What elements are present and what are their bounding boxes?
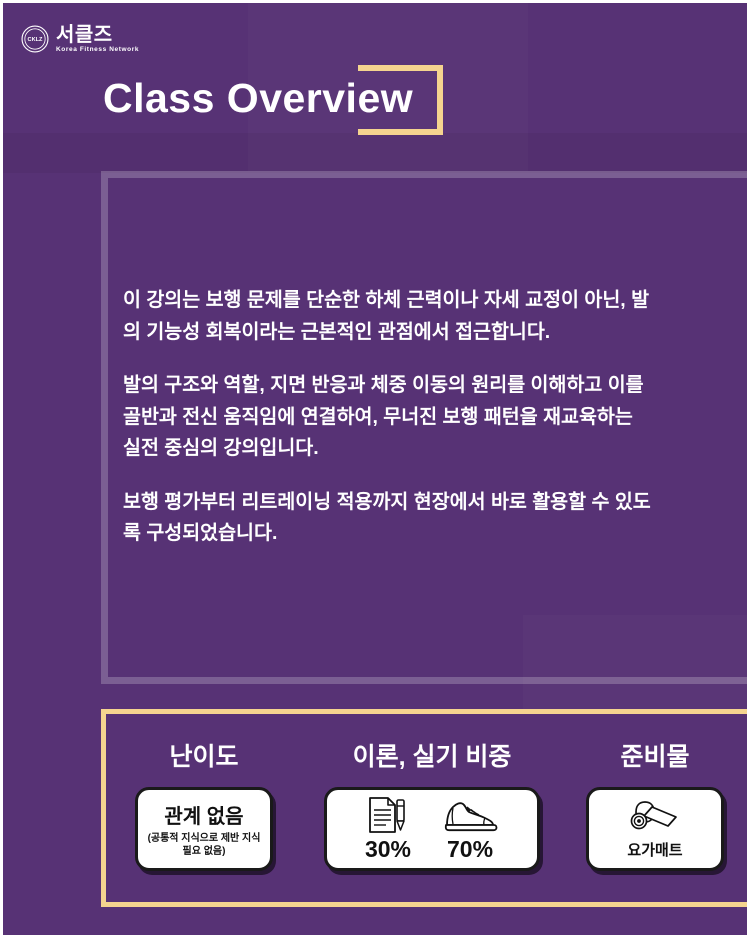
brand-logo: CKLZ 서클즈 Korea Fitness Network <box>21 25 139 54</box>
difficulty-value: 관계 없음 <box>164 800 243 829</box>
overview-paragraph-1: 이 강의는 보행 문제를 단순한 하체 근력이나 자세 교정이 아닌, 발의 기… <box>123 285 653 348</box>
yoga-mat-icon <box>624 798 686 838</box>
spec-column-supplies: 준비물 요가매트 <box>557 715 750 871</box>
logo-tagline: Korea Fitness Network <box>56 47 139 54</box>
circles-logo-icon: CKLZ <box>21 25 49 53</box>
spec-column-difficulty: 난이도 관계 없음 (공통적 지식으로 제반 지식 필요 없음) <box>101 715 307 871</box>
sneaker-icon <box>441 795 499 835</box>
ratio-row: 30% 70% <box>337 795 527 863</box>
overview-paragraph-2: 발의 구조와 역할, 지면 반응과 체중 이동의 원리를 이해하고 이를 골반과… <box>123 370 653 465</box>
logo-wordmark: 서클즈 <box>56 25 139 45</box>
logo-mark-text: CKLZ <box>28 37 43 43</box>
overview-body: 이 강의는 보행 문제를 단순한 하체 근력이나 자세 교정이 아닌, 발의 기… <box>123 285 653 550</box>
logo-text-group: 서클즈 Korea Fitness Network <box>56 25 139 54</box>
overview-paragraph-3: 보행 평가부터 리트레이닝 적용까지 현장에서 바로 활용할 수 있도록 구성되… <box>123 487 653 550</box>
ratio-card: 30% 70% <box>324 787 540 871</box>
spec-column-ratio: 이론, 실기 비중 <box>307 715 557 871</box>
class-overview-slide: CKLZ 서클즈 Korea Fitness Network Class Ove… <box>0 0 750 938</box>
practice-percentage: 70% <box>447 836 493 863</box>
background-tone-band <box>3 133 750 173</box>
supplies-value: 요가매트 <box>627 839 682 860</box>
supplies-card: 요가매트 <box>586 787 724 871</box>
difficulty-card: 관계 없음 (공통적 지식으로 제반 지식 필요 없음) <box>135 787 273 871</box>
difficulty-heading: 난이도 <box>169 737 238 773</box>
ratio-item-practice: 70% <box>441 795 499 863</box>
supplies-heading: 준비물 <box>620 737 689 773</box>
theory-percentage: 30% <box>365 836 411 863</box>
page-title: Class Overview <box>103 75 413 122</box>
ratio-heading: 이론, 실기 비중 <box>353 737 512 773</box>
ratio-item-theory: 30% <box>365 795 411 863</box>
spec-columns: 난이도 관계 없음 (공통적 지식으로 제반 지식 필요 없음) 이론, 실기 … <box>101 715 750 901</box>
document-pen-icon <box>366 795 410 835</box>
difficulty-note: (공통적 지식으로 제반 지식 필요 없음) <box>146 832 262 859</box>
